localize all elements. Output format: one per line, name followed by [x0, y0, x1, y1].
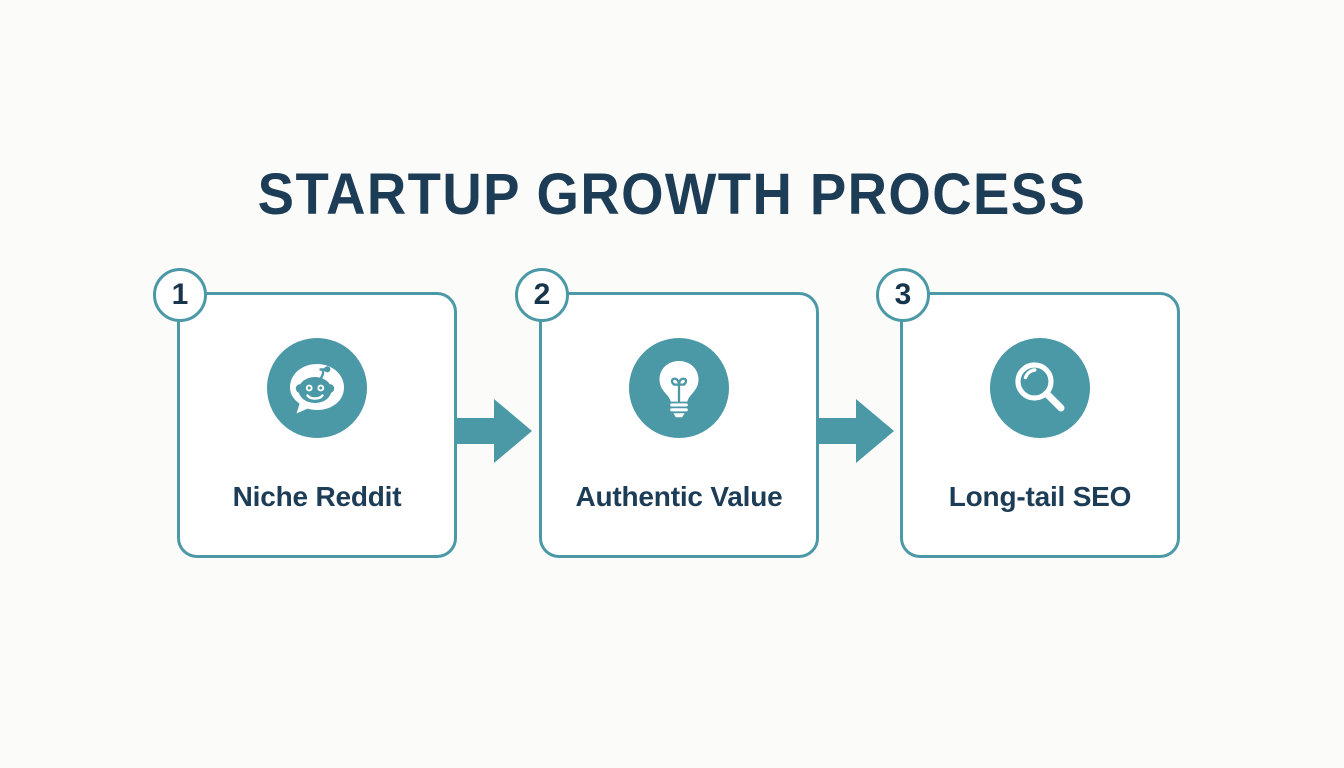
step-label-3: Long-tail SEO: [903, 481, 1177, 513]
step-label-1: Niche Reddit: [180, 481, 454, 513]
step-card-1[interactable]: 1: [177, 292, 457, 558]
step-number-badge-2: 2: [515, 268, 569, 322]
step-number-badge-1: 1: [153, 268, 207, 322]
step-number-badge-3: 3: [876, 268, 930, 322]
step-icon-wrapper-3: [903, 338, 1177, 438]
slide-canvas: STARTUP GROWTH PROCESS 1: [0, 0, 1344, 768]
step-card-3[interactable]: 3 Long-tail SEO: [900, 292, 1180, 558]
step-icon-wrapper-2: [542, 338, 816, 438]
reddit-icon: [267, 338, 367, 438]
arrow-right-icon-1: [454, 397, 532, 465]
magnifier-icon: [990, 338, 1090, 438]
step-label-2: Authentic Value: [542, 481, 816, 513]
step-icon-wrapper-1: [180, 338, 454, 438]
lightbulb-icon: [629, 338, 729, 438]
step-card-2[interactable]: 2: [539, 292, 819, 558]
process-flow: 1: [177, 292, 1183, 560]
arrow-right-icon-2: [816, 397, 894, 465]
page-title: STARTUP GROWTH PROCESS: [40, 160, 1303, 230]
